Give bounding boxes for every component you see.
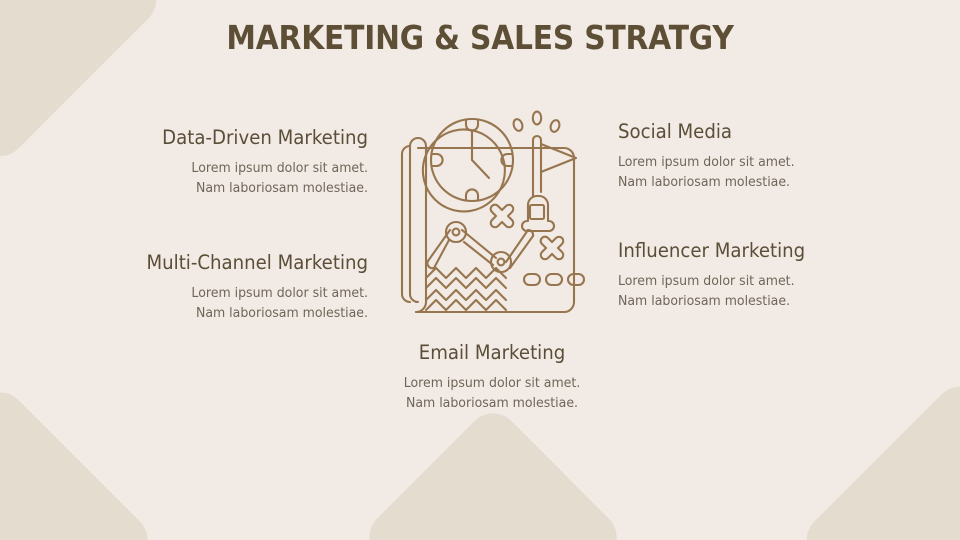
block-heading-data-driven-marketing: Data-Driven Marketing [128,127,368,149]
block-body-data-driven-marketing: Lorem ipsum dolor sit amet. Nam laborios… [123,159,368,197]
block-body-email-marketing: Lorem ipsum dolor sit amet. Nam laborios… [378,374,606,412]
body-line-2: Nam laboriosam molestiae. [196,181,368,196]
content-block-email-marketing: Email Marketing Lorem ipsum dolor sit am… [372,342,612,413]
sparkle-center [533,112,541,125]
block-body-influencer-marketing: Lorem ipsum dolor sit amet. Nam laborios… [618,272,894,310]
body-line-2: Nam laboriosam molestiae. [196,306,368,321]
decor-shape-bottom-center [359,403,628,540]
body-line-1: Lorem ipsum dolor sit amet. [404,376,581,391]
slide-canvas: MARKETING & SALES STRATGY Data-Driven Ma… [0,0,960,540]
block-heading-email-marketing: Email Marketing [380,342,603,364]
page-title: MARKETING & SALES STRATGY [48,18,912,57]
content-block-multi-channel-marketing: Multi-Channel Marketing Lorem ipsum dolo… [100,252,368,323]
waypoint-dot-1 [453,229,460,236]
legend-dot-1 [524,274,540,285]
block-body-social-media: Lorem ipsum dolor sit amet. Nam laborios… [618,153,884,191]
content-block-data-driven-marketing: Data-Driven Marketing Lorem ipsum dolor … [110,127,368,198]
block-heading-social-media: Social Media [618,121,878,143]
block-body-multi-channel-marketing: Lorem ipsum dolor sit amet. Nam laborios… [113,284,368,322]
legend-dot-2 [546,274,562,285]
body-line-2: Nam laboriosam molestiae. [618,175,790,190]
x-mark-lower [541,237,564,260]
decor-shape-bottom-right [796,376,960,540]
wave-lines [426,268,506,310]
decor-shape-bottom-left [0,382,158,540]
sparkle-left [512,118,524,132]
body-line-1: Lorem ipsum dolor sit amet. [191,286,368,301]
treasure-map-illustration [392,106,596,318]
clock-icon [423,119,513,211]
map-scroll-roll-bottom [402,294,410,302]
body-line-1: Lorem ipsum dolor sit amet. [191,161,368,176]
x-mark-upper [491,205,514,228]
body-line-2: Nam laboriosam molestiae. [618,294,790,309]
body-line-2: Nam laboriosam molestiae. [406,396,578,411]
map-scroll-roll-back [402,146,410,294]
flag-base-square [530,205,544,219]
body-line-1: Lorem ipsum dolor sit amet. [618,155,795,170]
content-block-influencer-marketing: Influencer Marketing Lorem ipsum dolor s… [618,240,908,311]
flag-icon [512,112,576,231]
block-heading-multi-channel-marketing: Multi-Channel Marketing [119,252,368,274]
block-heading-influencer-marketing: Influencer Marketing [618,240,888,262]
legend-dot-3 [568,274,584,285]
content-block-social-media: Social Media Lorem ipsum dolor sit amet.… [618,121,898,192]
route-path [427,222,533,272]
sparkle-right [549,119,561,133]
waypoint-dot-2 [498,259,505,266]
body-line-1: Lorem ipsum dolor sit amet. [618,274,795,289]
